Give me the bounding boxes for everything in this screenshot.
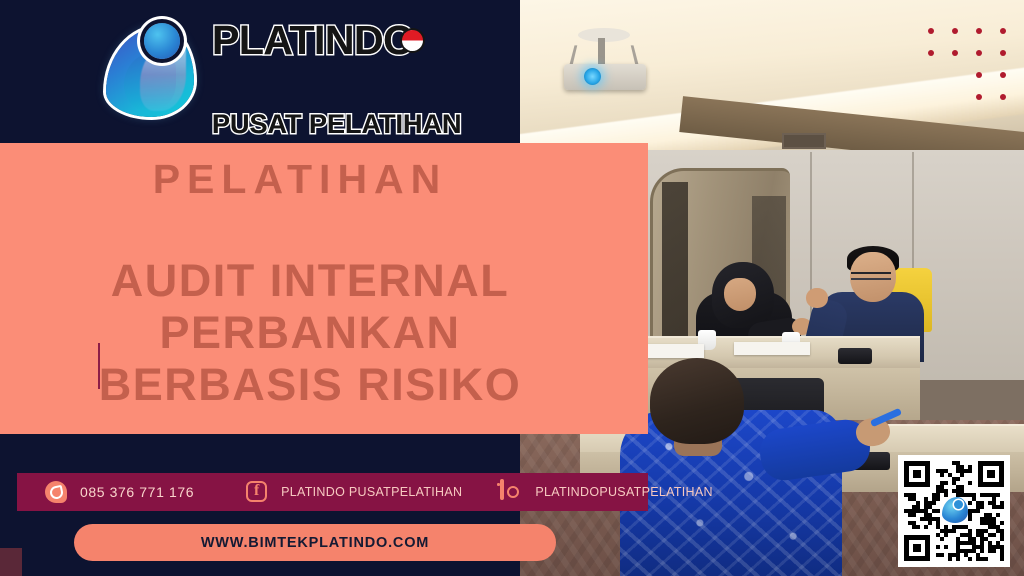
foreground-participant: [620, 358, 856, 576]
dot: [1000, 94, 1006, 100]
qr-module: [936, 545, 940, 549]
title-panel: PELATIHAN AUDIT INTERNAL PERBANKAN BERBA…: [0, 143, 648, 434]
qr-module: [996, 513, 1000, 517]
dot: [976, 50, 982, 56]
website-button[interactable]: WWW.BIMTEKPLATINDO.COM: [74, 524, 556, 561]
website-url: WWW.BIMTEKPLATINDO.COM: [201, 535, 429, 551]
projector-body: [564, 64, 646, 90]
qr-module: [1000, 521, 1004, 525]
participant-man-glasses: [851, 272, 891, 280]
qr-module: [984, 557, 988, 561]
dot: [976, 72, 982, 78]
dot: [976, 94, 982, 100]
qr-module: [968, 517, 972, 521]
qr-module: [944, 545, 948, 549]
logo-main-fill: PLATINDO: [212, 20, 415, 61]
qr-module: [944, 481, 948, 485]
qr-module: [960, 473, 964, 477]
qr-module: [952, 529, 956, 533]
qr-module: [912, 513, 916, 517]
qr-module: [948, 557, 952, 561]
logo-sub-fill: PUSAT PELATIHAN: [212, 111, 462, 138]
head-back-view: [650, 358, 744, 444]
facebook-icon: f: [246, 481, 268, 503]
water-droplet-flame-logo: [100, 19, 204, 123]
qr-module: [968, 469, 972, 473]
qr-module: [996, 493, 1000, 497]
qr-finder-tr: [978, 461, 1004, 487]
contact-facebook[interactable]: f PLATINDO PUSATPELATIHAN: [246, 481, 462, 503]
qr-module: [936, 497, 940, 501]
qr-code[interactable]: [898, 455, 1010, 567]
document-paper: [734, 342, 810, 355]
qr-module: [928, 521, 932, 525]
qr-module: [936, 509, 940, 513]
qr-module: [980, 549, 984, 553]
qr-center-logo: [942, 497, 968, 523]
qr-module: [944, 493, 948, 497]
dot: [1000, 72, 1006, 78]
title-eyebrow: PELATIHAN: [0, 157, 600, 202]
qr-module: [944, 533, 948, 537]
promo-poster: PLATINDO PLATINDO PUSAT PELATIHAN PUSAT …: [0, 0, 1024, 576]
title-line-1: AUDIT INTERNAL: [0, 255, 620, 307]
dot: [1000, 50, 1006, 56]
qr-finder-tl: [904, 461, 930, 487]
qr-module: [956, 557, 960, 561]
instagram-icon: [500, 481, 522, 503]
participant-man-hand: [806, 288, 828, 308]
qr-module: [992, 549, 996, 553]
facebook-handle: PLATINDO PUSATPELATIHAN: [281, 485, 462, 499]
participant-woman-face: [724, 278, 756, 311]
indonesia-flag-circle: [402, 30, 423, 51]
qr-module: [968, 557, 972, 561]
dot: [928, 28, 934, 34]
qr-finder-bl: [904, 535, 930, 561]
whatsapp-number: 085 376 771 176: [80, 484, 194, 500]
title-line-3: BERBASIS RISIKO: [0, 359, 620, 411]
qr-module: [940, 473, 944, 477]
qr-module: [932, 501, 936, 505]
whatsapp-icon: [45, 481, 67, 503]
dot: [928, 50, 934, 56]
qr-module: [1000, 557, 1004, 561]
dot: [952, 28, 958, 34]
contact-bar: 085 376 771 176 f PLATINDO PUSATPELATIHA…: [17, 473, 648, 511]
dot: [1000, 28, 1006, 34]
accent-square: [0, 548, 22, 576]
decorative-dot-grid: [928, 28, 1012, 100]
text-cursor-artifact: [98, 343, 100, 389]
qr-module: [968, 481, 972, 485]
dot: [976, 28, 982, 34]
dot: [952, 50, 958, 56]
projector-lens: [584, 68, 601, 85]
ceiling-vent: [782, 133, 826, 149]
contact-instagram[interactable]: PLATINDOPUSATPELATIHAN: [500, 481, 712, 503]
qr-module: [956, 477, 960, 481]
qr-module: [924, 525, 928, 529]
qr-module: [976, 509, 980, 513]
title-line-2: PERBANKAN: [0, 307, 620, 359]
qr-module: [980, 505, 984, 509]
qr-module: [992, 533, 996, 537]
contact-whatsapp[interactable]: 085 376 771 176: [45, 481, 194, 503]
instagram-handle: PLATINDOPUSATPELATIHAN: [535, 485, 712, 499]
qr-module: [1000, 537, 1004, 541]
logo-wordmark: PLATINDO PLATINDO PUSAT PELATIHAN PUSAT …: [212, 20, 442, 96]
droplet-head-circle: [144, 23, 180, 59]
qr-module: [940, 553, 944, 557]
qr-module: [940, 537, 944, 541]
title-headline: AUDIT INTERNAL PERBANKAN BERBASIS RISIKO: [0, 255, 620, 412]
qr-module: [1000, 505, 1004, 509]
qr-module: [916, 525, 920, 529]
qr-matrix: [904, 461, 1004, 561]
qr-module: [968, 501, 972, 505]
brand-logo[interactable]: PLATINDO PLATINDO PUSAT PELATIHAN PUSAT …: [100, 14, 440, 126]
